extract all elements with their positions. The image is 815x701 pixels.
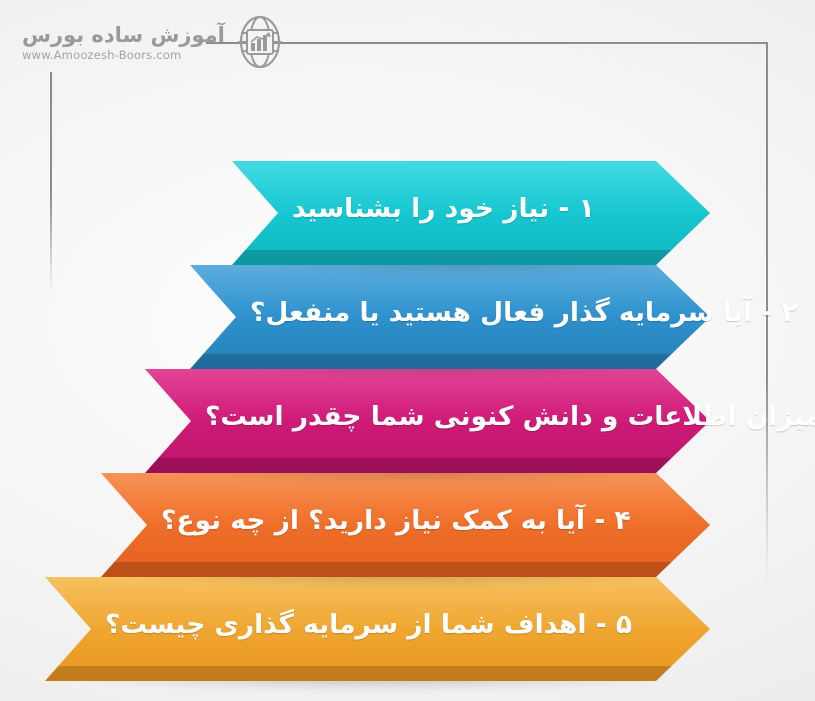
step-row-4-label: ۴ - آیا به کمک نیاز دارید؟ از چه نوع؟: [101, 473, 710, 577]
step-row-4[interactable]: ۴ - آیا به کمک نیاز دارید؟ از چه نوع؟: [101, 473, 710, 577]
step-row-1-label: ۱ - نیاز خود را بشناسید: [232, 161, 710, 265]
step-row-5[interactable]: ۵ - اهداف شما از سرمایه گذاری چیست؟: [45, 577, 710, 681]
infographic-canvas: آموزش ساده بورس www.Amoozesh-Boors.com ۱…: [0, 0, 815, 701]
step-row-1[interactable]: ۱ - نیاز خود را بشناسید: [232, 161, 710, 265]
step-row-2[interactable]: ۲ - آیا سرمایه گذار فعال هستید یا منفعل؟: [190, 265, 710, 369]
step-row-2-label: ۲ - آیا سرمایه گذار فعال هستید یا منفعل؟: [190, 265, 710, 369]
step-row-3-label: ۳ - میزان اطلاعات و دانش کنونی شما چقدر …: [145, 369, 710, 473]
steps-chart: ۱ - نیاز خود را بشناسید ۲ - آیا سرمایه گ…: [0, 0, 815, 701]
step-row-3[interactable]: ۳ - میزان اطلاعات و دانش کنونی شما چقدر …: [145, 369, 710, 473]
step-row-5-label: ۵ - اهداف شما از سرمایه گذاری چیست؟: [45, 577, 710, 681]
